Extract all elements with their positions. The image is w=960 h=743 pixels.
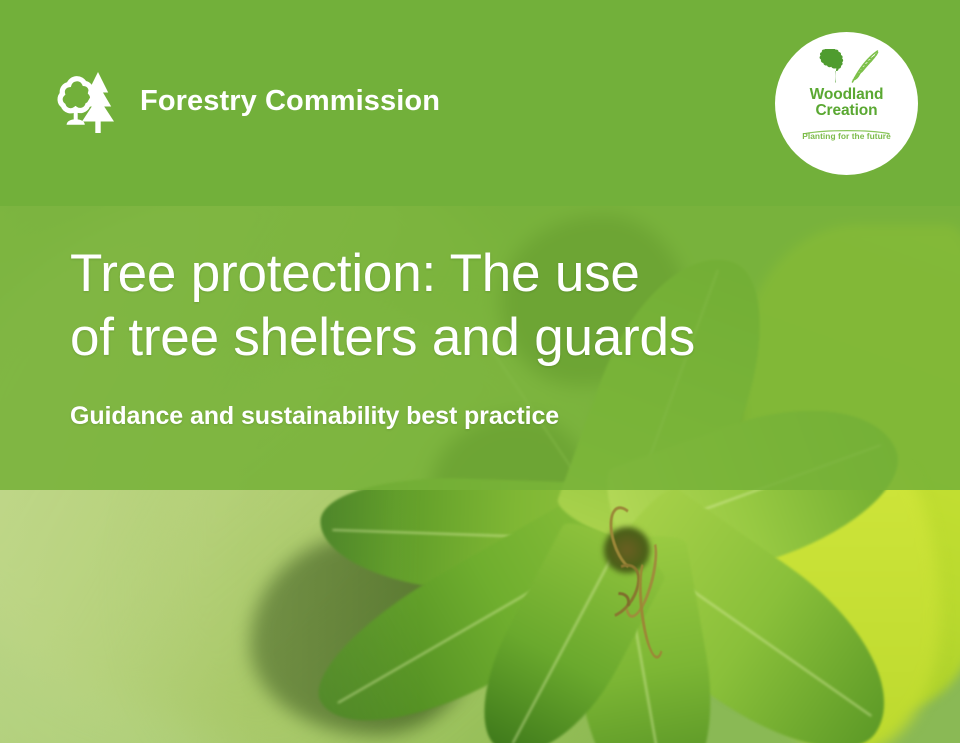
forestry-commission-wordmark: Forestry Commission <box>140 85 440 118</box>
forestry-commission-logo: Forestry Commission <box>46 68 440 134</box>
oak-leaf-and-fern-leaf-icon <box>814 49 880 83</box>
page-title: Tree protection: The use of tree shelter… <box>70 242 695 369</box>
forestry-commission-tree-logo-icon <box>46 68 122 134</box>
woodland-creation-name-line-1: Woodland <box>810 86 884 103</box>
badge-divider-icon <box>804 123 890 130</box>
woodland-creation-badge: Woodland Creation Planting for the futur… <box>775 32 918 175</box>
header-band: Forestry Commission <box>0 0 960 206</box>
title-band: Tree protection: The use of tree shelter… <box>0 206 960 490</box>
cover-page: Forestry Commission <box>0 0 960 743</box>
woodland-creation-name: Woodland Creation <box>810 87 884 119</box>
woodland-creation-name-line-2: Creation <box>815 102 877 119</box>
woodland-creation-tagline: Planting for the future <box>802 131 891 141</box>
page-subtitle: Guidance and sustainability best practic… <box>70 402 559 431</box>
